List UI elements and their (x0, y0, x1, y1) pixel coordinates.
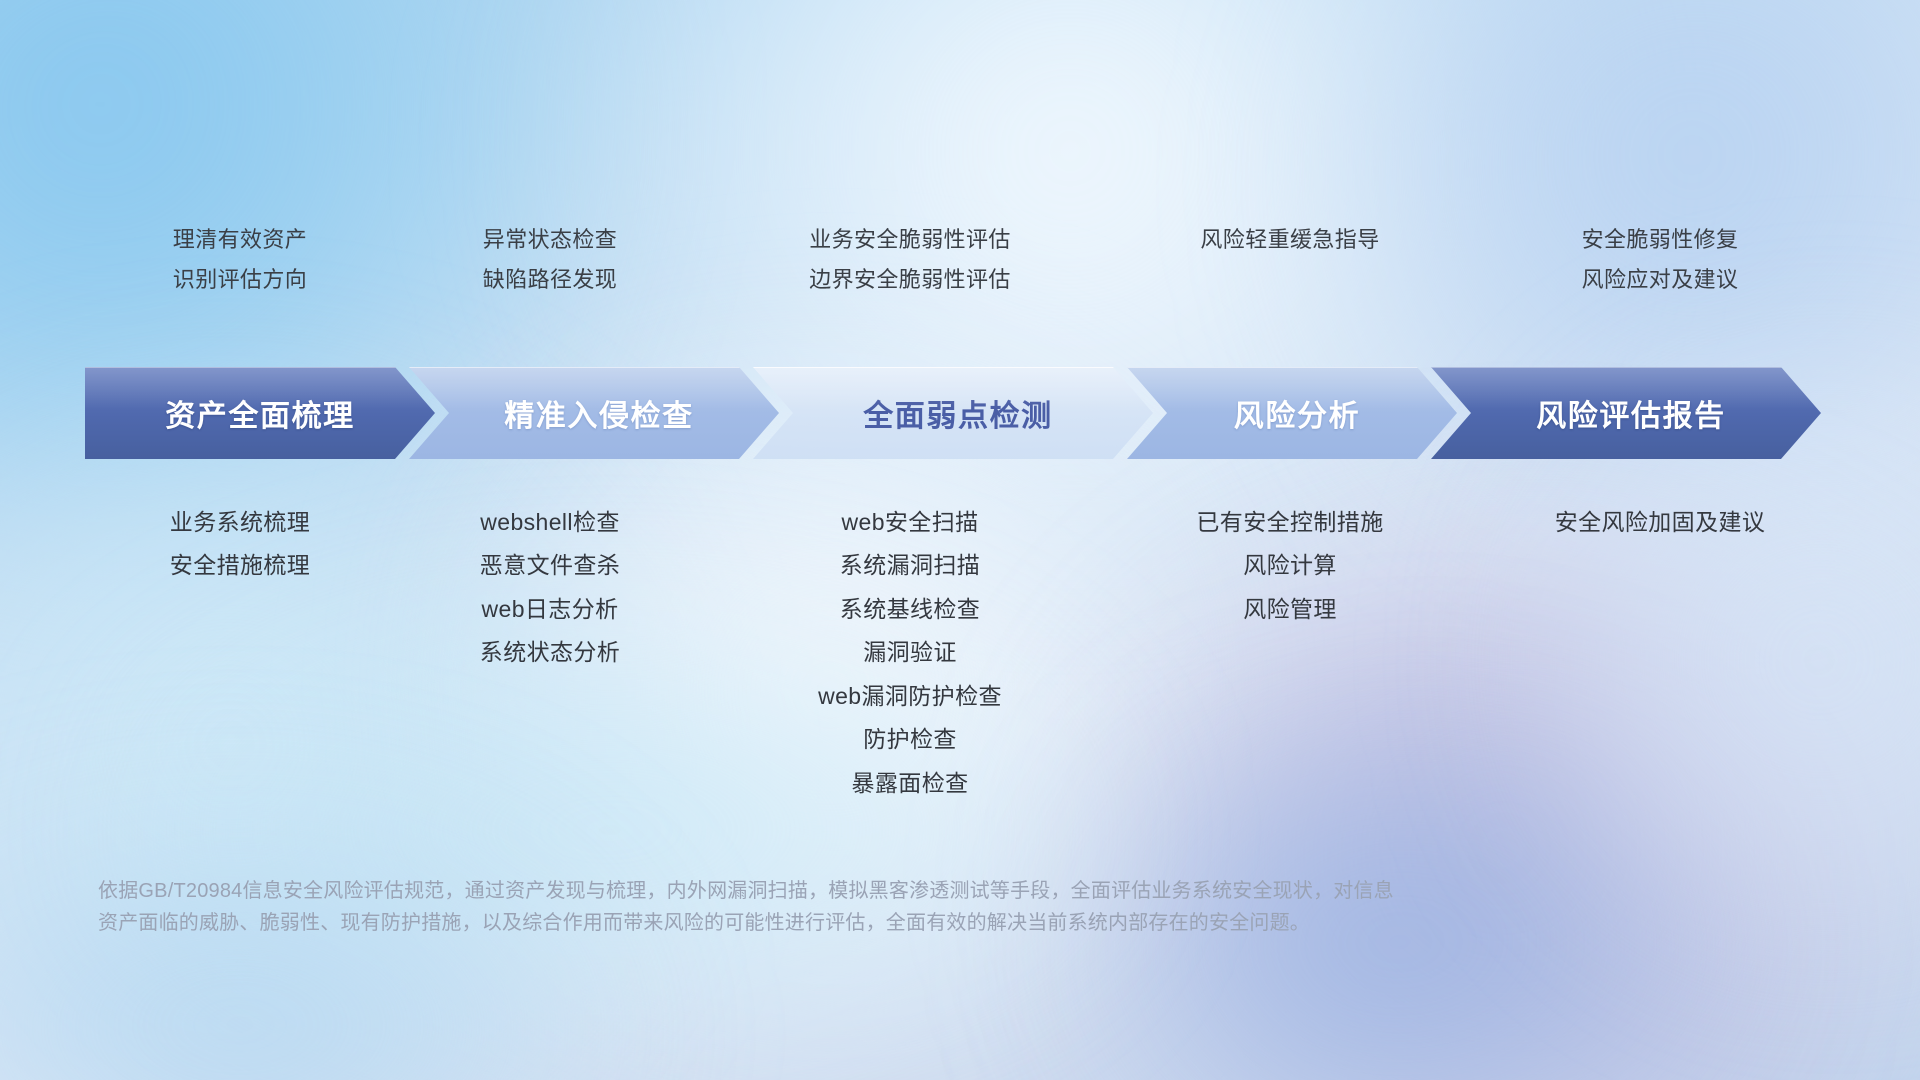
stage-top-labels-weakness-detection: 业务安全脆弱性评估边界安全脆弱性评估 (710, 226, 1110, 294)
process-diagram: 理清有效资产识别评估方向异常状态检查缺陷路径发现业务安全脆弱性评估边界安全脆弱性… (0, 0, 1920, 1080)
stage-bottom-item: 防护检查 (863, 725, 957, 754)
stage-top-label: 缺陷路径发现 (483, 266, 617, 295)
stage-bottom-item: web漏洞防护检查 (818, 682, 1002, 711)
stage-bottom-item: 暴露面检查 (852, 769, 969, 798)
stage-bottom-list-weakness-detection: web安全扫描系统漏洞扫描系统基线检查漏洞验证web漏洞防护检查防护检查暴露面检… (710, 508, 1110, 798)
stage-top-label: 理清有效资产 (173, 226, 307, 255)
stage-chevron-label: 全面弱点检测 (853, 391, 1053, 435)
stage-bottom-item: 业务系统梳理 (170, 508, 310, 537)
stage-bottom-list-asset-inventory: 业务系统梳理安全措施梳理 (90, 508, 390, 581)
stage-bottom-item: 系统漏洞扫描 (840, 551, 980, 580)
stage-chevron-band: 资产全面梳理精准入侵检查全面弱点检测风险分析风险评估报告 (85, 367, 1860, 459)
stage-bottom-item: webshell检查 (480, 508, 620, 537)
stage-top-labels-risk-report: 安全脆弱性修复风险应对及建议 (1470, 226, 1850, 294)
stage-bottom-item: web安全扫描 (842, 508, 979, 537)
stage-chevron-label: 精准入侵检查 (494, 391, 694, 435)
stage-top-label: 边界安全脆弱性评估 (809, 266, 1011, 295)
stage-chevron-risk-report[interactable]: 风险评估报告 (1431, 367, 1821, 459)
stage-top-label: 异常状态检查 (483, 226, 617, 255)
stage-top-labels-risk-analysis: 风险轻重缓急指导 (1110, 226, 1470, 294)
stage-top-label: 安全脆弱性修复 (1582, 226, 1739, 255)
stage-bottom-item: 安全措施梳理 (170, 551, 310, 580)
footer-line-2: 资产面临的威胁、脆弱性、现有防护措施，以及综合作用而带来风险的可能性进行评估，全… (98, 907, 1778, 939)
stage-bottom-item: 风险管理 (1243, 595, 1337, 624)
stage-top-label: 风险轻重缓急指导 (1200, 226, 1379, 255)
stage-bottom-item: 恶意文件查杀 (480, 551, 620, 580)
stage-bottom-item: 已有安全控制措施 (1196, 508, 1383, 537)
stage-top-labels-row: 理清有效资产识别评估方向异常状态检查缺陷路径发现业务安全脆弱性评估边界安全脆弱性… (90, 226, 1850, 294)
stage-chevron-intrusion-check[interactable]: 精准入侵检查 (409, 367, 779, 459)
stage-top-label: 业务安全脆弱性评估 (809, 226, 1011, 255)
stage-bottom-lists-row: 业务系统梳理安全措施梳理webshell检查恶意文件查杀web日志分析系统状态分… (90, 508, 1850, 798)
stage-chevron-label: 风险评估报告 (1526, 391, 1726, 435)
stage-bottom-item: web日志分析 (482, 595, 619, 624)
stage-chevron-label: 风险分析 (1224, 391, 1360, 435)
stage-bottom-item: 漏洞验证 (863, 638, 957, 667)
stage-bottom-list-intrusion-check: webshell检查恶意文件查杀web日志分析系统状态分析 (390, 508, 710, 668)
stage-top-label: 风险应对及建议 (1582, 266, 1739, 295)
stage-chevron-weakness-detection[interactable]: 全面弱点检测 (753, 367, 1153, 459)
footer-description: 依据GB/T20984信息安全风险评估规范，通过资产发现与梳理，内外网漏洞扫描，… (98, 875, 1778, 940)
stage-top-labels-asset-inventory: 理清有效资产识别评估方向 (90, 226, 390, 294)
stage-chevron-risk-analysis[interactable]: 风险分析 (1127, 367, 1457, 459)
footer-line-1: 依据GB/T20984信息安全风险评估规范，通过资产发现与梳理，内外网漏洞扫描，… (98, 875, 1778, 907)
stage-bottom-item: 系统状态分析 (480, 638, 620, 667)
stage-top-label: 识别评估方向 (173, 266, 307, 295)
stage-chevron-label: 资产全面梳理 (165, 391, 355, 435)
stage-chevron-asset-inventory[interactable]: 资产全面梳理 (85, 367, 435, 459)
stage-top-labels-intrusion-check: 异常状态检查缺陷路径发现 (390, 226, 710, 294)
stage-bottom-list-risk-analysis: 已有安全控制措施风险计算风险管理 (1110, 508, 1470, 624)
stage-bottom-item: 系统基线检查 (840, 595, 980, 624)
stage-bottom-list-risk-report: 安全风险加固及建议 (1470, 508, 1850, 537)
stage-bottom-item: 安全风险加固及建议 (1555, 508, 1766, 537)
stage-bottom-item: 风险计算 (1243, 551, 1337, 580)
